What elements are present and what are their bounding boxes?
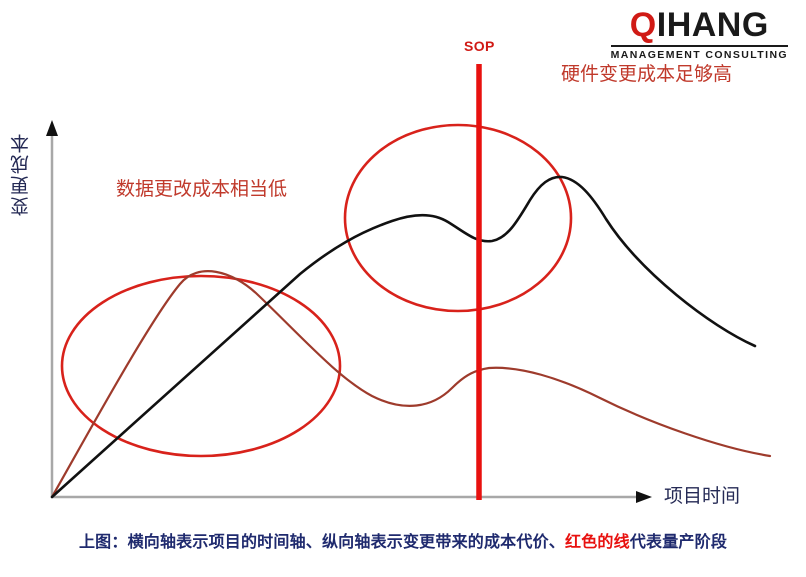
chart-canvas: QIHANG MANAGEMENT CONSULTING 硬件变更成本足够高 数… xyxy=(0,0,806,577)
sop-label: SOP xyxy=(464,38,495,54)
x-axis-label: 项目时间 xyxy=(664,481,740,508)
x-axis-arrowhead xyxy=(636,491,652,503)
company-logo: QIHANG MANAGEMENT CONSULTING xyxy=(611,8,788,61)
figure-caption: 上图：横向轴表示项目的时间轴、纵向轴表示变更带来的成本代价、红色的线代表量产阶段 xyxy=(0,528,806,552)
annotation-data-cost: 数据更改成本相当低 xyxy=(116,174,287,201)
caption-part-1: 上图：横向轴表示项目的时间轴、纵向轴表示变更带来的成本代价、 xyxy=(79,534,565,551)
caption-part-2: 代表量产阶段 xyxy=(630,534,727,551)
highlight-ellipse-data-cost xyxy=(62,276,340,456)
y-axis-label: 变更成本 xyxy=(8,132,35,216)
series-data-change-cost xyxy=(52,271,770,497)
y-axis-arrowhead xyxy=(46,120,58,136)
logo-letters-rest: IHANG xyxy=(657,6,769,44)
caption-highlight: 红色的线 xyxy=(565,534,630,551)
logo-letter-q: Q xyxy=(630,6,657,44)
annotation-hardware-cost: 硬件变更成本足够高 xyxy=(561,59,732,86)
series-hardware-change-cost xyxy=(52,177,755,497)
logo-divider xyxy=(611,45,788,47)
highlight-ellipse-hardware-cost xyxy=(345,125,571,311)
logo-wordmark: QIHANG xyxy=(611,8,788,42)
